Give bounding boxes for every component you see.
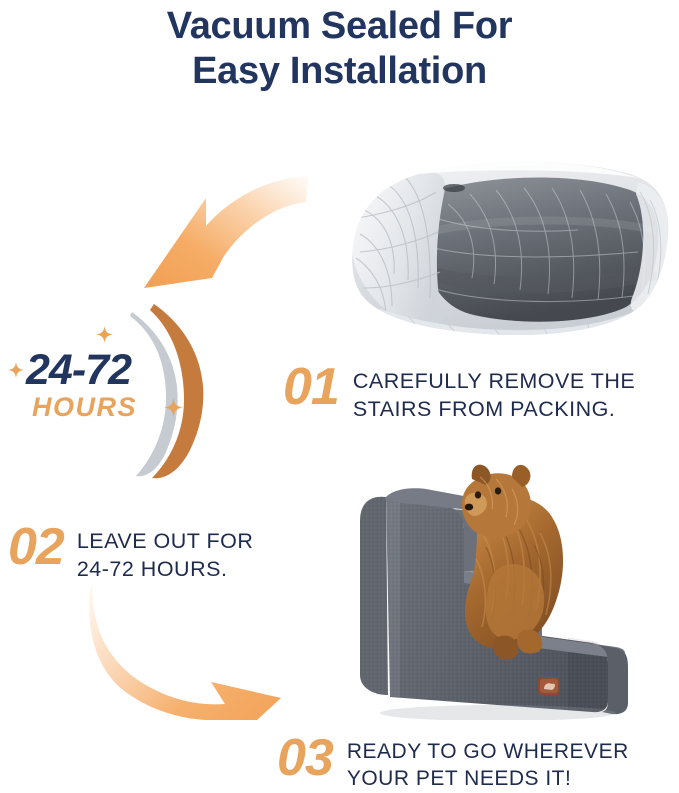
page-title: Vacuum Sealed For Easy Installation bbox=[0, 4, 679, 94]
step-text-02-line-1: LEAVE OUT FOR bbox=[77, 529, 254, 553]
package-label-mark bbox=[443, 184, 465, 192]
dog-nose bbox=[465, 504, 473, 511]
step-text-01-line-2: STAIRS FROM PACKING. bbox=[353, 396, 635, 424]
badge-arc-outer-orange bbox=[150, 304, 203, 478]
sparkle-star-left bbox=[8, 362, 24, 378]
step-text-03-line-1: READY TO GO WHEREVER bbox=[347, 740, 629, 763]
stairs-side-highlight bbox=[360, 493, 400, 720]
dog-eye-right bbox=[495, 487, 501, 494]
duration-badge: 24-72 HOURS bbox=[4, 300, 254, 480]
vacuum-sealed-package-photo bbox=[338, 148, 674, 348]
stairs-illustration bbox=[330, 455, 675, 720]
step-text-01-line-1: CAREFULLY REMOVE THE bbox=[353, 369, 635, 393]
arrow-1-path bbox=[144, 176, 308, 288]
package-illustration bbox=[338, 148, 674, 348]
infographic-canvas: Vacuum Sealed For Easy Installation bbox=[0, 0, 679, 789]
badge-duration-unit: HOURS bbox=[32, 392, 137, 423]
sparkle-star-top bbox=[96, 326, 113, 343]
curved-arrow-down-right bbox=[85, 570, 300, 720]
step-item-03: 03 READY TO GO WHEREVER YOUR PET NEEDS I… bbox=[277, 733, 629, 793]
badge-arc-inner-gray bbox=[130, 312, 178, 476]
step-number-03: 03 bbox=[277, 733, 333, 784]
step-text-01: CAREFULLY REMOVE THE STAIRS FROM PACKING… bbox=[353, 362, 635, 424]
step-text-03: READY TO GO WHEREVER YOUR PET NEEDS IT! bbox=[347, 733, 629, 793]
arrow-2-path bbox=[89, 576, 281, 720]
pomeranian-dog bbox=[462, 465, 563, 660]
pet-stairs-with-dog-photo bbox=[330, 455, 675, 720]
sparkle-star-right bbox=[164, 398, 183, 417]
arrow-2-shape bbox=[85, 570, 300, 720]
dog-eye-left bbox=[475, 491, 481, 498]
step-text-03-line-2: YOUR PET NEEDS IT! bbox=[347, 765, 629, 792]
step-number-02: 02 bbox=[8, 522, 64, 573]
curved-arrow-down-left bbox=[120, 160, 310, 310]
brand-logo-badge bbox=[538, 677, 560, 695]
step-item-01: 01 CAREFULLY REMOVE THE STAIRS FROM PACK… bbox=[283, 362, 635, 424]
arrow-1-shape bbox=[120, 160, 310, 310]
dog-head bbox=[462, 465, 531, 538]
page-title-line-1: Vacuum Sealed For bbox=[0, 4, 679, 49]
step-number-01: 01 bbox=[283, 362, 339, 413]
badge-duration-value: 24-72 bbox=[26, 346, 131, 395]
page-title-line-2: Easy Installation bbox=[0, 49, 679, 94]
